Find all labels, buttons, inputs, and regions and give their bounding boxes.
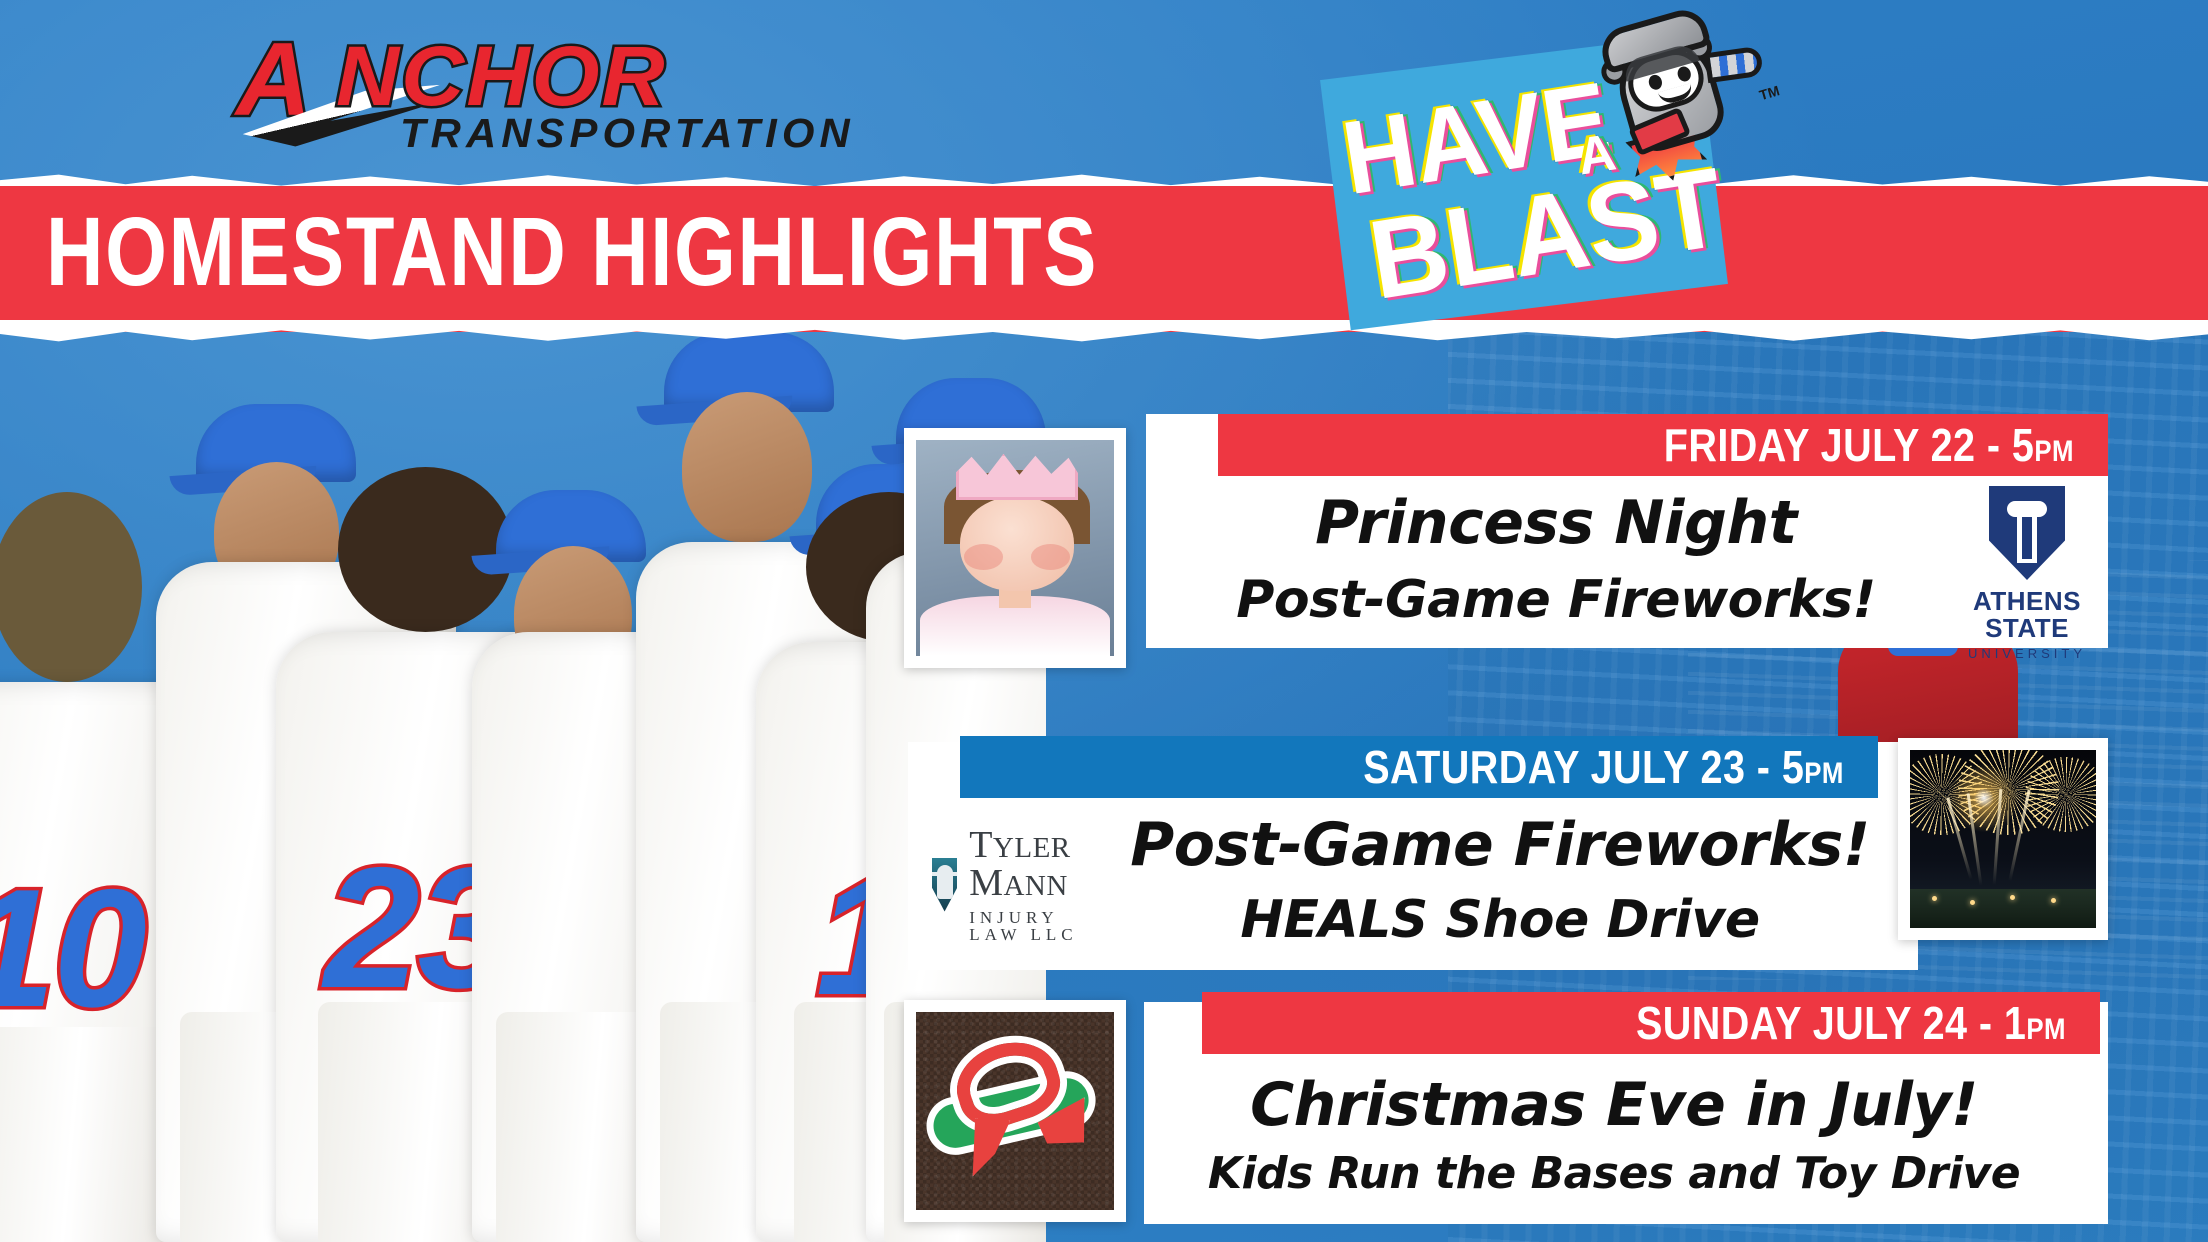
athens-state-logo: ATHENS STATE UNIVERSITY — [1962, 486, 2092, 661]
event-card-header: SATURDAY JULY 23 - 5PM — [960, 736, 1878, 798]
anchor-logo-subtitle: TRANSPORTATION — [400, 110, 855, 157]
event-headline: Post-Game Fireworks! — [1090, 810, 1910, 880]
athens-name-line2: STATE — [1962, 615, 2092, 642]
mascot-eye-right — [1676, 65, 1693, 83]
event-headline: Christmas Eve in July! — [1144, 1070, 2084, 1140]
athens-name-line3: UNIVERSITY — [1962, 646, 2092, 661]
event-card-header: SUNDAY JULY 24 - 1PM — [1202, 992, 2100, 1054]
team-celebration-photo: 10 23 — [0, 318, 1046, 1242]
event-date-time: FRIDAY JULY 22 - 5PM — [1664, 418, 2074, 472]
trademark-symbol: TM — [1757, 82, 1781, 103]
mascot-eye-left — [1647, 73, 1664, 91]
princess-photo — [904, 428, 1126, 668]
athens-shield-icon — [1989, 486, 2065, 580]
promo-graphic: 10 23 — [0, 0, 2208, 1242]
mascot-mouth — [1658, 83, 1695, 106]
event-card-header: FRIDAY JULY 22 - 5PM — [1218, 414, 2108, 476]
event-subline: Post-Game Fireworks! — [1146, 570, 1966, 630]
christmas-rocket-logo-photo — [904, 1000, 1126, 1222]
event-subline: Kids Run the Bases and Toy Drive — [1144, 1148, 2084, 1199]
tyler-mann-logo: TYLERMANN INJURY LAW LLC — [932, 826, 1089, 943]
fireworks-photo — [1898, 738, 2108, 940]
anchor-logo-word: NCHOR — [336, 34, 667, 118]
page-title: HOMESTAND HIGHLIGHTS — [46, 196, 1098, 308]
jersey-number: 10 — [0, 864, 145, 1032]
event-headline: Princess Night — [1146, 488, 1966, 558]
mascot-tail-icon — [1704, 46, 1764, 84]
event-date-time: SATURDAY JULY 23 - 5PM — [1363, 740, 1844, 794]
have-a-blast-logo: HAVE A BLAST TM — [1320, 4, 1790, 334]
anchor-transportation-logo: A NCHOR TRANSPORTATION — [236, 18, 796, 138]
tyler-mann-name: TYLERMANN — [969, 826, 1089, 902]
athens-name-line1: ATHENS — [1962, 588, 2092, 615]
event-date-time: SUNDAY JULY 24 - 1PM — [1636, 996, 2066, 1050]
tyler-mann-subtitle: INJURY LAW LLC — [969, 909, 1089, 943]
event-subline: HEALS Shoe Drive — [1090, 890, 1910, 950]
tyler-mann-shield-icon — [932, 858, 957, 912]
